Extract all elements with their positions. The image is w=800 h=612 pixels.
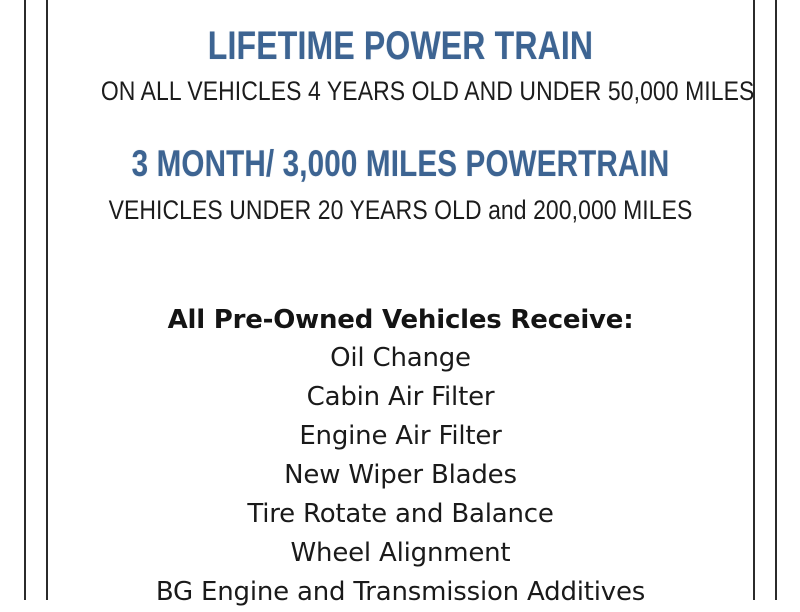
right-outer-rule	[775, 0, 777, 600]
list-item: New Wiper Blades	[48, 456, 753, 495]
list-item: Wheel Alignment	[48, 534, 753, 573]
list-item: Tire Rotate and Balance	[48, 495, 753, 534]
left-outer-rule	[24, 0, 26, 600]
services-section: All Pre-Owned Vehicles Receive: Oil Chan…	[48, 301, 753, 612]
list-item: Cabin Air Filter	[48, 378, 753, 417]
three-month-powertrain-subtitle: VEHICLES UNDER 20 YEARS OLD and 200,000 …	[101, 195, 700, 225]
three-month-powertrain-title: 3 MONTH/ 3,000 MILES POWERTRAIN	[119, 142, 683, 186]
lifetime-powertrain-subtitle: ON ALL VEHICLES 4 YEARS OLD AND UNDER 50…	[101, 76, 700, 106]
lifetime-powertrain-title: LIFETIME POWER TRAIN	[119, 24, 683, 68]
list-item: Oil Change	[48, 339, 753, 378]
poster-content: LIFETIME POWER TRAIN ON ALL VEHICLES 4 Y…	[48, 0, 753, 612]
services-list: Oil Change Cabin Air Filter Engine Air F…	[48, 339, 753, 612]
warranty-block-lifetime: LIFETIME POWER TRAIN ON ALL VEHICLES 4 Y…	[48, 0, 753, 106]
services-heading: All Pre-Owned Vehicles Receive:	[48, 301, 753, 339]
list-item: BG Engine and Transmission Additives	[48, 573, 753, 612]
warranty-poster: LIFETIME POWER TRAIN ON ALL VEHICLES 4 Y…	[0, 0, 800, 600]
warranty-block-three-month: 3 MONTH/ 3,000 MILES POWERTRAIN VEHICLES…	[48, 106, 753, 225]
list-item: Engine Air Filter	[48, 417, 753, 456]
